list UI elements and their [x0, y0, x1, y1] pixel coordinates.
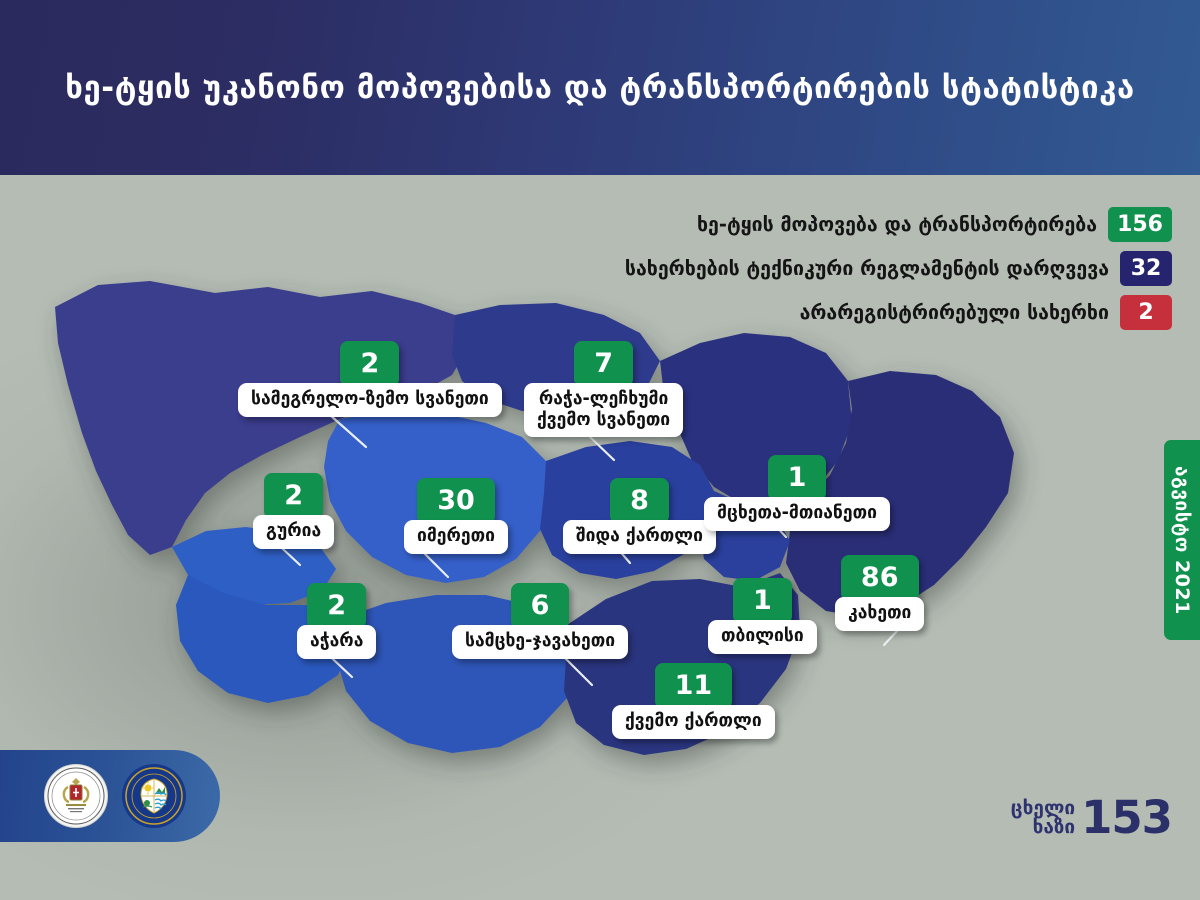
ministry-emblem-svg	[47, 767, 105, 825]
marker-guria[interactable]: 2 გურია	[253, 473, 334, 549]
marker-samegrelo-zemo-svaneti[interactable]: 2 სამეგრელო-ზემო სვანეთი	[238, 341, 502, 417]
marker-label-racha: რაჭა-ლეჩხუმი ქვემო სვანეთი	[524, 383, 683, 437]
marker-label-tbilisi: თბილისი	[708, 620, 817, 654]
date-tab-label: აგვისტო 2021	[1171, 466, 1193, 615]
marker-count-racha: 7	[574, 341, 633, 387]
environmental-supervision-emblem-icon	[122, 764, 186, 828]
legend-row-sawmill-regulation[interactable]: სახერხების ტექნიკური რეგლამენტის დარღვევ…	[625, 251, 1172, 286]
marker-count-shida-kartli: 8	[610, 478, 669, 524]
marker-mtskheta-mtianeti[interactable]: 1 მცხეთა-მთიანეთი	[704, 455, 890, 531]
marker-label-guria: გურია	[253, 515, 334, 549]
ministry-emblem-icon	[44, 764, 108, 828]
infographic-poster: ხე-ტყის უკანონო მოპოვებისა და ტრანსპორტი…	[0, 0, 1200, 900]
marker-label-shida-kartli: შიდა ქართლი	[563, 520, 716, 554]
marker-kakheti[interactable]: 86 კახეთი	[835, 555, 924, 631]
legend-label-timber: ხე-ტყის მოპოვება და ტრანსპორტირება	[697, 213, 1097, 236]
marker-count-tbilisi: 1	[733, 578, 792, 624]
legend-badge-unregistered-sawmill: 2	[1120, 295, 1172, 330]
marker-count-imereti: 30	[417, 478, 495, 524]
marker-label-mtskheta: მცხეთა-მთიანეთი	[704, 497, 890, 531]
legend-badge-timber: 156	[1108, 207, 1172, 242]
marker-count-mtskheta: 1	[768, 455, 827, 501]
marker-count-kvemo-kartli: 11	[655, 663, 733, 709]
marker-samtskhe-javakheti[interactable]: 6 სამცხე-ჯავახეთი	[452, 583, 628, 659]
marker-label-samtskhe: სამცხე-ჯავახეთი	[452, 625, 628, 659]
marker-kvemo-kartli[interactable]: 11 ქვემო ქართლი	[612, 663, 775, 739]
legend-label-unregistered-sawmill: არარეგისტრირებული სახერხი	[800, 301, 1109, 324]
marker-label-adjara: აჭარა	[297, 625, 376, 659]
marker-count-adjara: 2	[307, 583, 366, 629]
department-emblem-svg	[125, 767, 183, 825]
header-banner: ხე-ტყის უკანონო მოპოვებისა და ტრანსპორტი…	[0, 0, 1200, 175]
legend-badge-sawmill-regulation: 32	[1120, 251, 1172, 286]
legend-label-sawmill-regulation: სახერხების ტექნიკური რეგლამენტის დარღვევ…	[625, 257, 1109, 280]
date-tab: აგვისტო 2021	[1164, 440, 1200, 640]
marker-label-samegrelo: სამეგრელო-ზემო სვანეთი	[238, 383, 502, 417]
marker-label-kvemo-kartli: ქვემო ქართლი	[612, 705, 775, 739]
hotline-label: ცხელი ხაზი	[1011, 799, 1075, 837]
marker-imereti[interactable]: 30 იმერეთი	[404, 478, 508, 554]
legend: ხე-ტყის მოპოვება და ტრანსპორტირება 156 ს…	[625, 207, 1172, 330]
marker-label-kakheti: კახეთი	[835, 597, 924, 631]
hotline: ცხელი ხაზი 153	[1011, 798, 1172, 839]
marker-count-samtskhe: 6	[511, 583, 570, 629]
marker-racha-lechkhumi[interactable]: 7 რაჭა-ლეჩხუმი ქვემო სვანეთი	[524, 341, 683, 437]
marker-tbilisi[interactable]: 1 თბილისი	[708, 578, 817, 654]
marker-count-kakheti: 86	[841, 555, 919, 601]
marker-shida-kartli[interactable]: 8 შიდა ქართლი	[563, 478, 716, 554]
logo-panel	[0, 750, 220, 842]
marker-label-imereti: იმერეთი	[404, 520, 508, 554]
legend-row-unregistered-sawmill[interactable]: არარეგისტრირებული სახერხი 2	[800, 295, 1172, 330]
marker-count-guria: 2	[264, 473, 323, 519]
page-title: ხე-ტყის უკანონო მოპოვებისა და ტრანსპორტი…	[35, 70, 1165, 106]
hotline-number: 153	[1081, 798, 1172, 839]
marker-count-samegrelo: 2	[340, 341, 399, 387]
legend-row-timber[interactable]: ხე-ტყის მოპოვება და ტრანსპორტირება 156	[697, 207, 1172, 242]
marker-adjara[interactable]: 2 აჭარა	[297, 583, 376, 659]
